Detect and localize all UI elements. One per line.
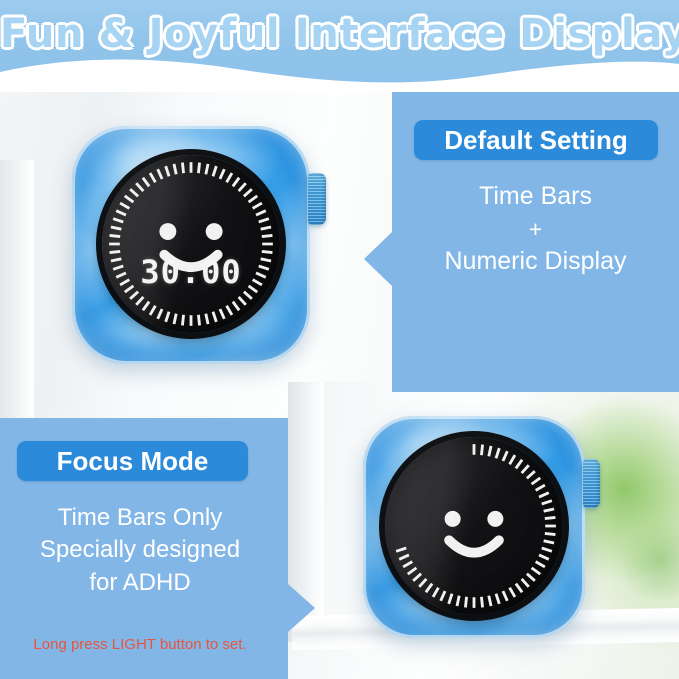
smiley-face-icon [102, 155, 280, 333]
photo-wall-edge [0, 160, 34, 420]
timer-knob[interactable] [308, 173, 326, 225]
callout-panel-focus-mode: Focus Mode Time Bars Only Specially desi… [0, 418, 288, 679]
description-line: Numeric Display [392, 245, 679, 279]
visual-timer-default-mode: 30:00 [72, 126, 310, 364]
description-line: Time Bars [392, 180, 679, 214]
description-line: for ADHD [0, 567, 280, 599]
badge-focus-mode: Focus Mode [17, 441, 248, 481]
timer-screen [385, 437, 563, 615]
visual-timer-focus-mode [363, 416, 585, 638]
header-wave-divider [0, 54, 679, 92]
description-line: Time Bars Only [0, 502, 280, 534]
timer-screen: 30:00 [102, 155, 280, 333]
callout-arrow-right-icon [288, 584, 315, 632]
header-banner: Fun & Joyful Interface Display [0, 0, 679, 92]
description-line: + [392, 214, 679, 245]
focus-mode-note: Long press LIGHT button to set. [0, 636, 280, 653]
badge-default-setting: Default Setting [414, 120, 658, 160]
focus-mode-description: Time Bars Only Specially designed for AD… [0, 502, 280, 599]
default-setting-description: Time Bars + Numeric Display [392, 180, 679, 279]
description-line: Specially designed [0, 534, 280, 566]
page-title: Fun & Joyful Interface Display [0, 11, 679, 57]
numeric-display: 30:00 [102, 253, 280, 291]
infographic-page: 30:00 Default Setting Time Bars + Numeri… [0, 0, 679, 679]
callout-panel-default-setting: Default Setting Time Bars + Numeric Disp… [392, 92, 679, 392]
callout-arrow-left-icon [364, 232, 392, 286]
timer-knob[interactable] [583, 459, 600, 508]
smiley-face-icon [385, 437, 563, 615]
